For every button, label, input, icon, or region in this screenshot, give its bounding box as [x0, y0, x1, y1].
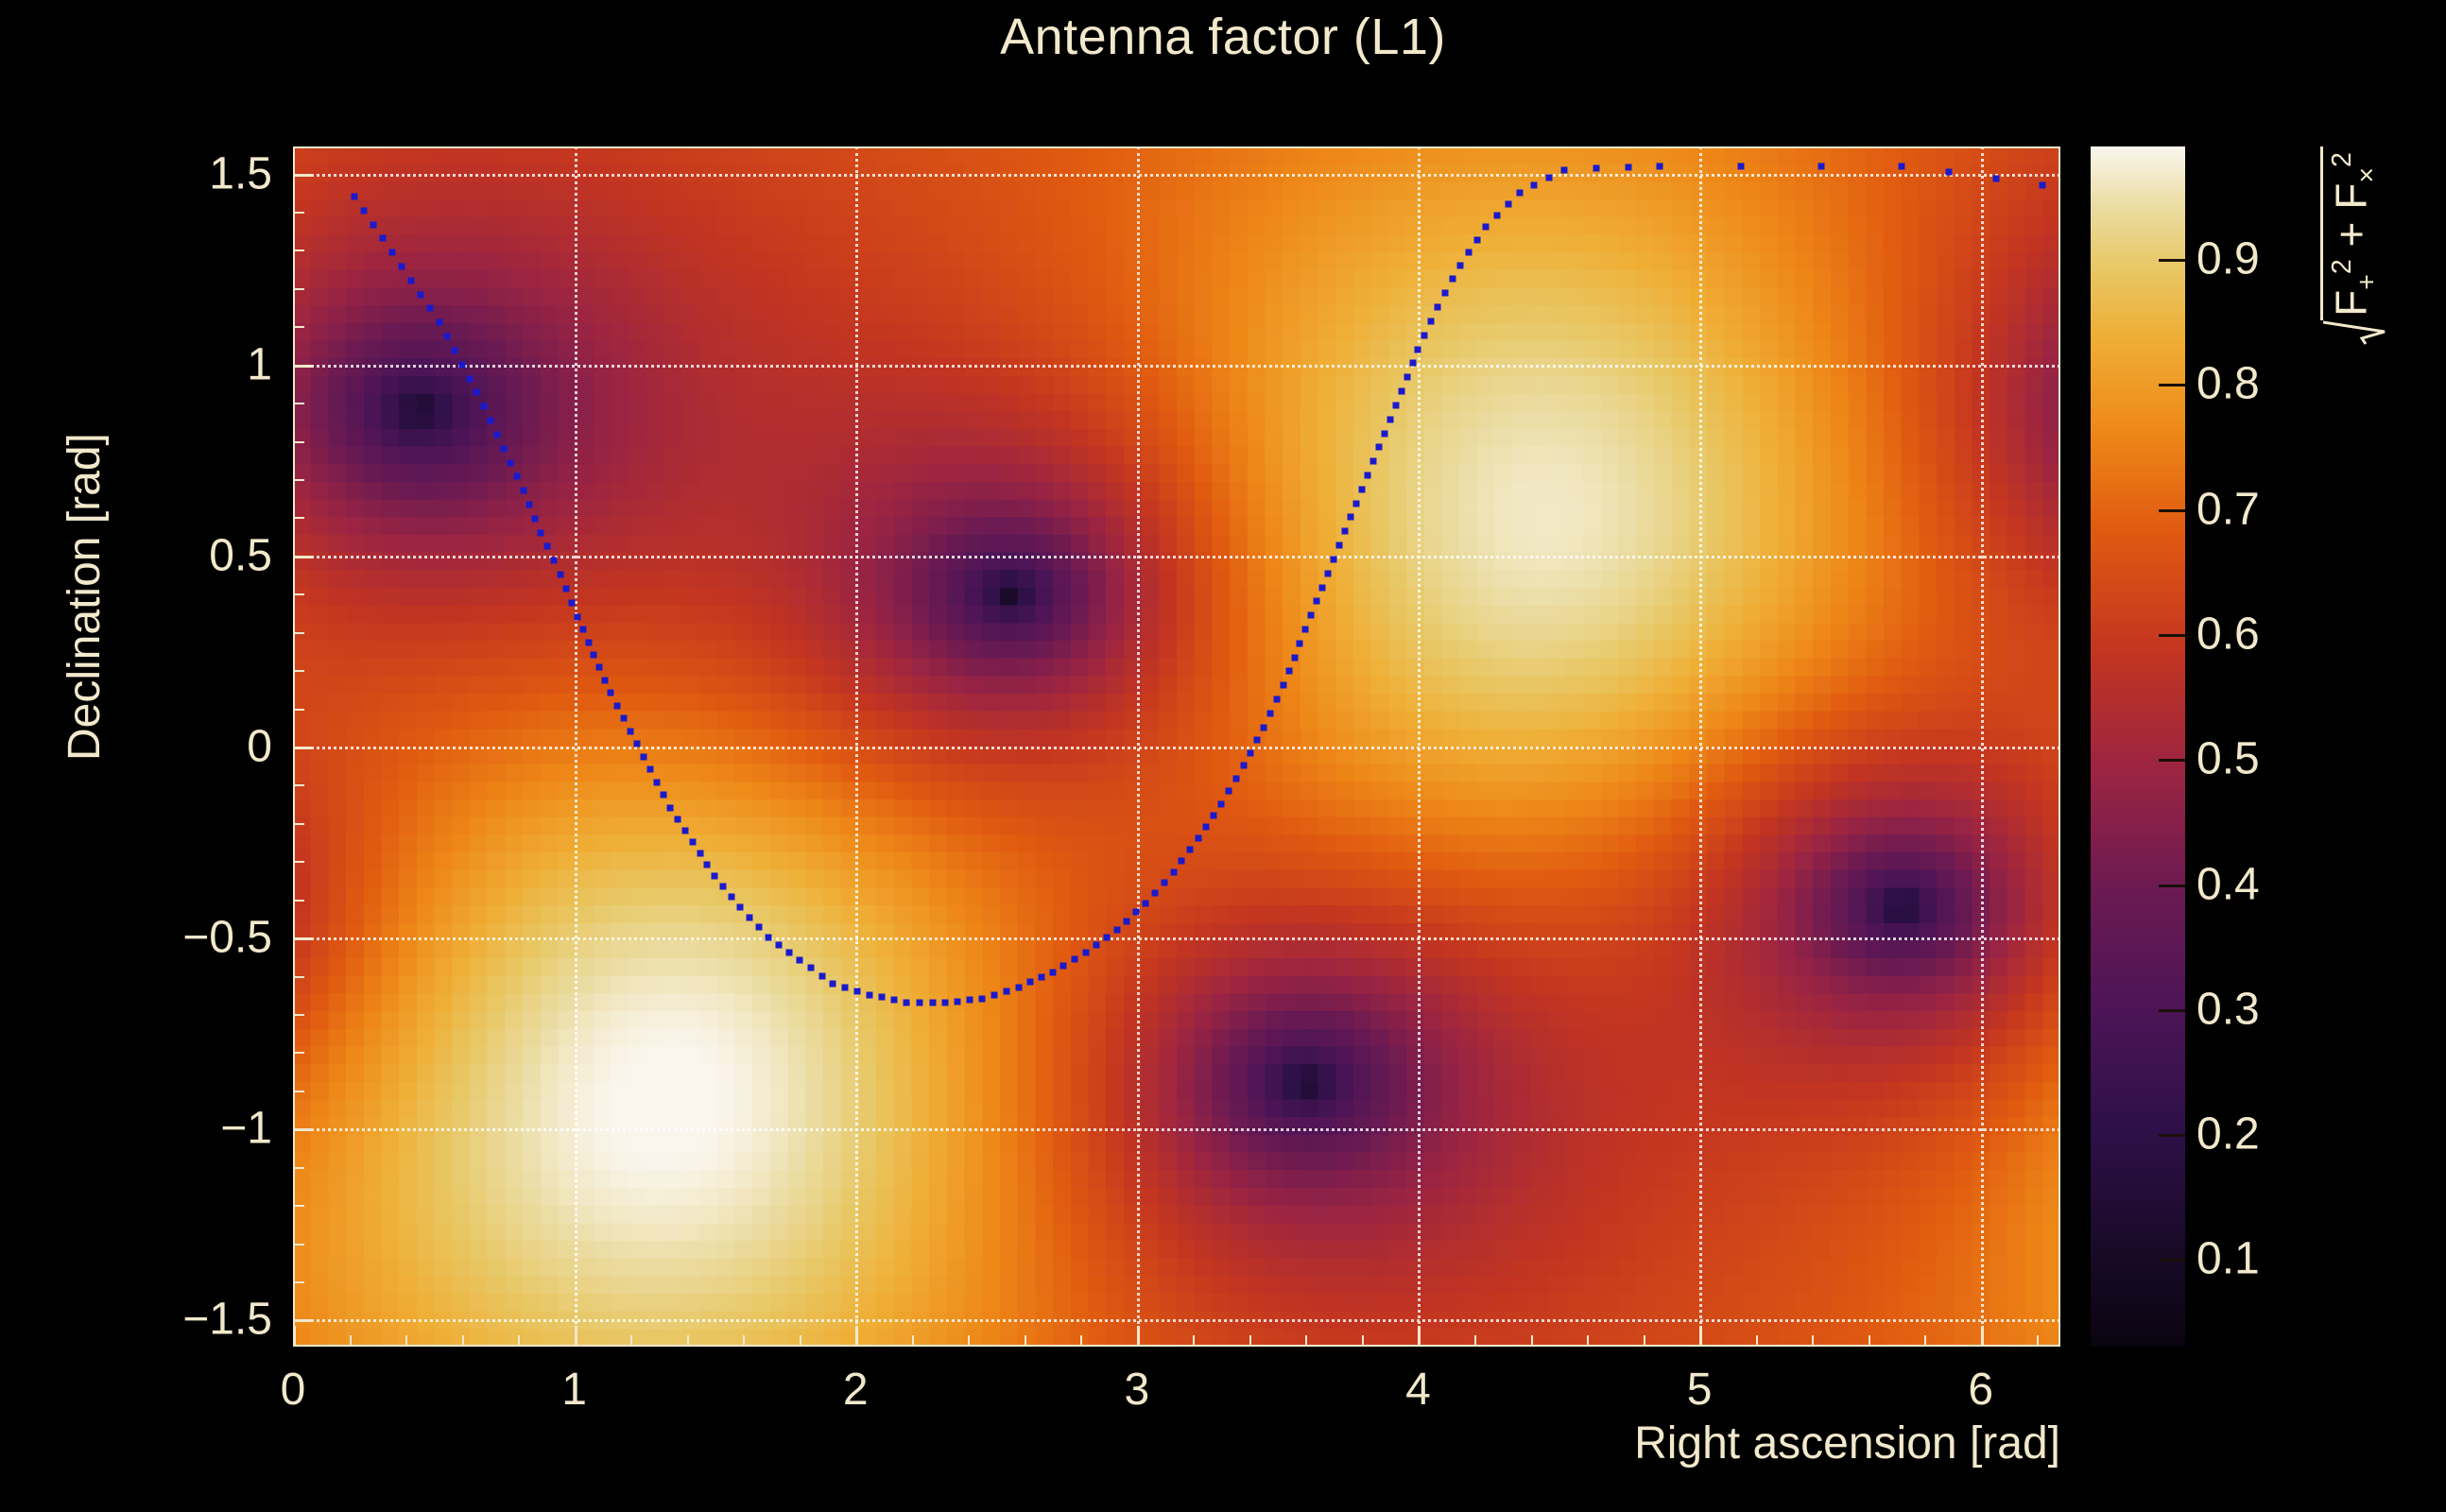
colorbar-gradient: [2091, 146, 2185, 1347]
f-cross-exponent: 2: [2327, 152, 2357, 167]
x-axis-minor-tick: [1362, 1335, 1364, 1347]
y-axis-tick-label: 0.5: [209, 529, 272, 581]
x-axis-minor-tick: [1587, 1335, 1589, 1347]
x-axis-tick-label: 3: [1124, 1364, 1149, 1416]
y-axis-minor-tick: [293, 1091, 304, 1092]
colorbar[interactable]: [2091, 146, 2185, 1347]
x-axis-minor-tick: [1249, 1335, 1251, 1347]
y-axis-minor-tick: [293, 900, 304, 902]
x-axis-minor-tick: [912, 1335, 914, 1347]
x-axis-tick-label: 4: [1405, 1364, 1431, 1416]
x-axis-minor-tick: [687, 1335, 689, 1347]
x-axis-minor-tick: [518, 1335, 520, 1347]
y-axis-tick-label: 0: [247, 721, 272, 773]
x-axis-tick-label: 5: [1687, 1364, 1713, 1416]
x-axis-minor-tick: [2037, 1335, 2039, 1347]
page-title: Antenna factor (L1): [0, 8, 2446, 66]
x-axis-minor-tick: [350, 1335, 352, 1347]
y-axis-tick: [293, 747, 314, 749]
y-axis-minor-tick: [293, 1205, 304, 1207]
y-axis-minor-tick: [293, 517, 304, 519]
x-axis-tick-label: 6: [1968, 1364, 1993, 1416]
x-axis-minor-tick: [800, 1335, 801, 1347]
y-axis-minor-tick: [293, 249, 304, 251]
y-axis-minor-tick: [293, 670, 304, 672]
x-axis-minor-tick: [1474, 1335, 1476, 1347]
x-axis-minor-tick: [1644, 1335, 1645, 1347]
y-axis-tick-label: −1.5: [182, 1294, 272, 1346]
x-axis-minor-tick: [1756, 1335, 1758, 1347]
colorbar-tick-label: 0.6: [2196, 608, 2260, 660]
x-axis-minor-tick: [1025, 1335, 1026, 1347]
colorbar-axis-title: F+2 + F×2: [2202, 189, 2446, 302]
y-axis-tick: [293, 556, 314, 558]
sum-operator: +: [2326, 210, 2375, 259]
f-plus-exponent: 2: [2327, 259, 2357, 274]
x-axis-minor-tick: [1080, 1335, 1082, 1347]
x-axis-minor-tick: [1305, 1335, 1307, 1347]
y-axis-title: Declination [rad]: [59, 146, 112, 761]
sqrt-content: F+2 + F×2: [2320, 146, 2386, 320]
y-axis-tick-label: −0.5: [182, 912, 272, 964]
x-axis-minor-tick: [1531, 1335, 1533, 1347]
x-axis-minor-tick: [1193, 1335, 1195, 1347]
colorbar-tick-label: 0.7: [2196, 483, 2260, 535]
y-axis-minor-tick: [293, 1281, 304, 1283]
colorbar-tick: [2159, 759, 2185, 762]
colorbar-tick-label: 0.3: [2196, 983, 2260, 1035]
colorbar-tick: [2159, 259, 2185, 262]
colorbar-tick-label: 0.2: [2196, 1108, 2260, 1160]
colorbar-tick-label: 0.8: [2196, 358, 2260, 410]
x-axis-tick: [1418, 1326, 1421, 1347]
y-axis-minor-tick: [293, 632, 304, 634]
x-axis-tick: [293, 1326, 296, 1347]
y-axis-tick-label: −1: [220, 1103, 272, 1155]
y-axis-minor-tick: [293, 288, 304, 290]
x-axis-minor-tick: [405, 1335, 407, 1347]
colorbar-tick-label: 0.5: [2196, 733, 2260, 785]
y-axis-minor-tick: [293, 1014, 304, 1016]
x-axis-tick-label: 2: [843, 1364, 869, 1416]
y-axis-minor-tick: [293, 709, 304, 711]
colorbar-tick: [2159, 634, 2185, 637]
x-axis-tick: [1137, 1326, 1140, 1347]
y-axis-minor-tick: [293, 593, 304, 595]
heatmap-image: [293, 146, 2060, 1347]
colorbar-tick: [2159, 885, 2185, 887]
x-axis-tick-label: 0: [281, 1364, 306, 1416]
x-axis-tick: [1981, 1326, 1984, 1347]
x-axis-minor-tick: [1869, 1335, 1870, 1347]
y-axis-tick: [293, 1128, 314, 1131]
x-axis-tick: [575, 1326, 577, 1347]
colorbar-tick-label: 0.4: [2196, 858, 2260, 910]
colorbar-tick: [2159, 1009, 2185, 1012]
x-axis-minor-tick: [1812, 1335, 1814, 1347]
x-axis-tick-label: 1: [561, 1364, 587, 1416]
f-cross-subscript: ×: [2352, 167, 2383, 183]
y-axis-tick-label: 1.5: [209, 147, 272, 199]
colorbar-tick: [2159, 509, 2185, 512]
y-axis-minor-tick: [293, 1244, 304, 1246]
colorbar-tick: [2159, 384, 2185, 387]
heatmap-canvas: [293, 146, 2060, 1347]
y-axis-minor-tick: [293, 326, 304, 328]
root-canvas: Antenna factor (L1) 01234561.510.50−0.5−…: [0, 0, 2446, 1512]
x-axis-minor-tick: [968, 1335, 970, 1347]
y-axis-tick: [293, 174, 314, 177]
y-axis-minor-tick: [293, 1052, 304, 1054]
y-axis-minor-tick: [293, 441, 304, 443]
y-axis-minor-tick: [293, 479, 304, 481]
f-cross-symbol: F: [2326, 183, 2375, 210]
colorbar-tick: [2159, 1134, 2185, 1137]
radical-icon: [2320, 320, 2386, 345]
y-axis-tick: [293, 1319, 314, 1322]
colorbar-canvas: [2091, 146, 2185, 1347]
colorbar-tick-label: 0.1: [2196, 1233, 2260, 1285]
x-axis-tick: [855, 1326, 858, 1347]
x-axis-minor-tick: [462, 1335, 464, 1347]
x-axis-tick: [1699, 1326, 1702, 1347]
y-axis-minor-tick: [293, 823, 304, 825]
y-axis-minor-tick: [293, 403, 304, 404]
y-axis-minor-tick: [293, 861, 304, 863]
y-axis-tick: [293, 937, 314, 940]
f-plus-subscript: +: [2352, 274, 2383, 290]
colorbar-tick: [2159, 1259, 2185, 1262]
f-plus-symbol: F: [2326, 290, 2375, 317]
x-axis-title: Right ascension [rad]: [1634, 1417, 2060, 1469]
plot-area[interactable]: [293, 146, 2060, 1347]
y-axis-minor-tick: [293, 976, 304, 978]
x-axis-minor-tick: [743, 1335, 745, 1347]
y-axis-tick: [293, 365, 314, 368]
y-axis-minor-tick: [293, 212, 304, 214]
x-axis-minor-tick: [1924, 1335, 1926, 1347]
y-axis-minor-tick: [293, 1167, 304, 1169]
y-axis-tick-label: 1: [247, 338, 272, 390]
x-axis-minor-tick: [630, 1335, 632, 1347]
sqrt-expression: F+2 + F×2: [2320, 146, 2386, 345]
y-axis-minor-tick: [293, 784, 304, 786]
